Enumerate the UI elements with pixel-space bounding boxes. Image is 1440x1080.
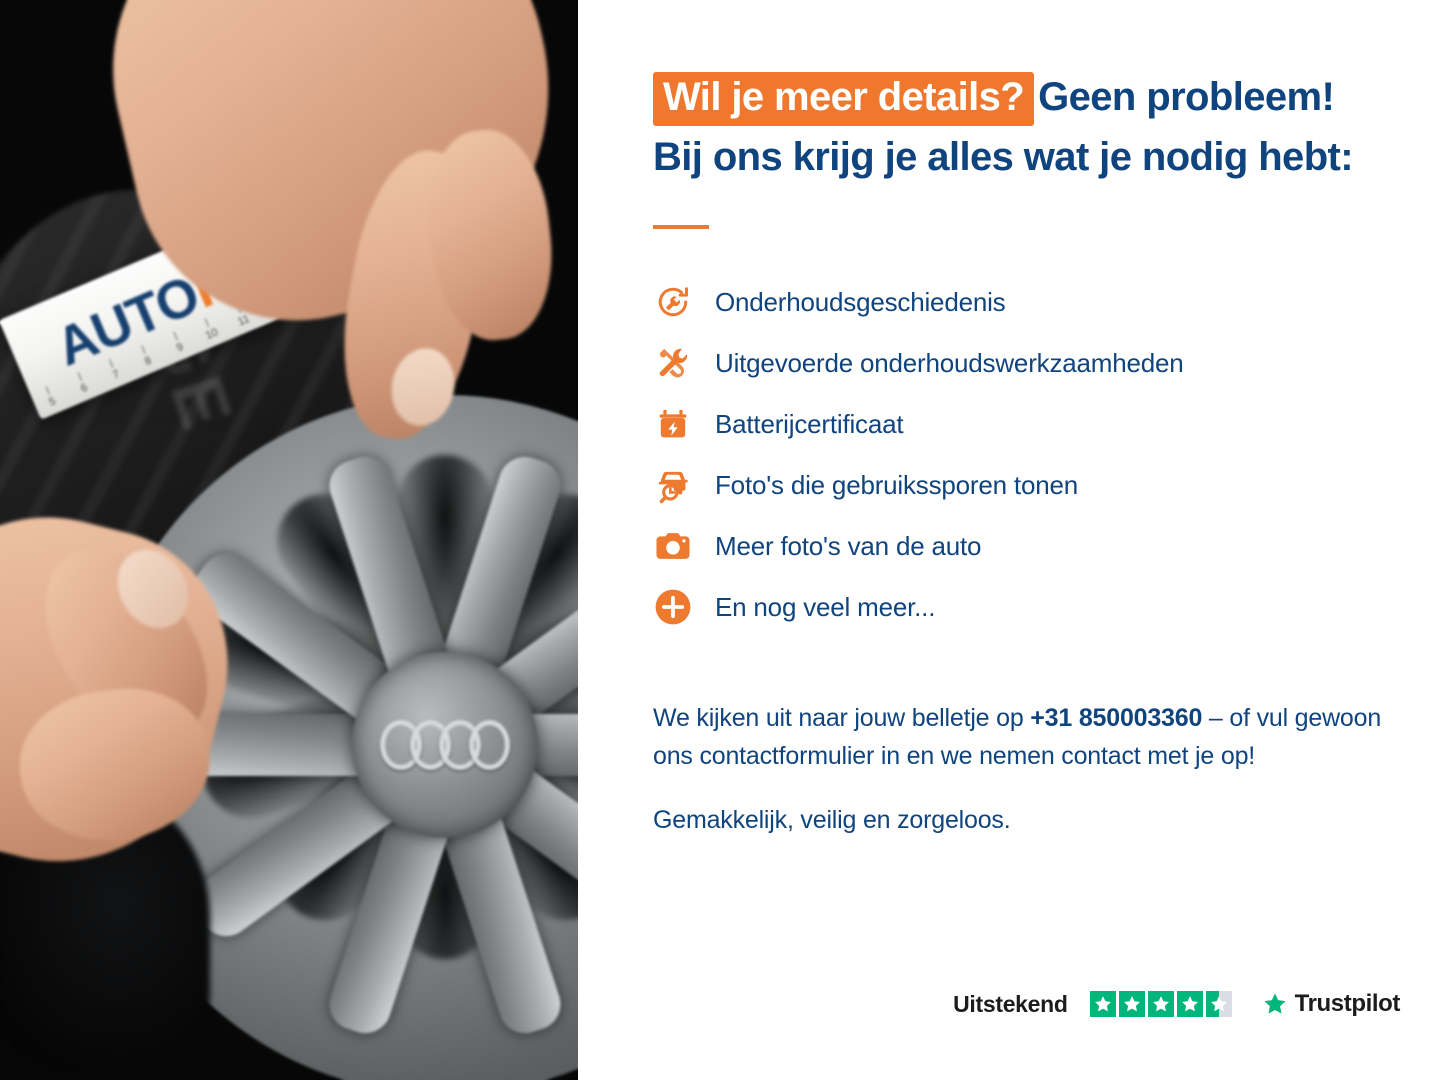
promo-banner: AGE	[0, 0, 1440, 1080]
trustpilot-rating-word: Uitstekend	[953, 991, 1068, 1018]
trustpilot-star-half	[1206, 991, 1232, 1017]
feature-item-more: En nog veel meer...	[653, 576, 1400, 637]
phone-number: +31 850003360	[1030, 704, 1202, 732]
trustpilot-star-filled	[1090, 991, 1116, 1017]
wheel-center-emblem	[380, 725, 510, 765]
trustpilot-star-icon	[1262, 991, 1288, 1017]
contact-copy: We kijken uit naar jouw belletje op +31 …	[653, 699, 1398, 839]
headline-line2: Bij ons krijg je alles wat je nodig hebt…	[653, 134, 1400, 181]
contact-paragraph: We kijken uit naar jouw belletje op +31 …	[653, 699, 1398, 775]
plus-circle-icon	[653, 587, 693, 627]
camera-icon	[653, 526, 693, 566]
headline-rest: Geen probleem!	[1038, 75, 1334, 119]
feature-item-maintenance-work: Uitgevoerde onderhoudswerkzaamheden	[653, 332, 1400, 393]
tools-icon	[653, 343, 693, 383]
trustpilot-logo: Trustpilot	[1262, 990, 1400, 1018]
reassurance-paragraph: Gemakkelijk, veilig en zorgeloos.	[653, 801, 1398, 839]
feature-label: Foto's die gebruikssporen tonen	[715, 469, 1078, 502]
hero-photo: AGE	[0, 0, 578, 1080]
maintenance-history-icon	[653, 282, 693, 322]
orange-divider	[653, 225, 709, 229]
feature-label: Batterijcertificaat	[715, 408, 903, 441]
feature-list: Onderhoudsgeschiedenis Uitgevoerde onder…	[653, 271, 1400, 637]
contact-text-before: We kijken uit naar jouw belletje op	[653, 704, 1030, 732]
battery-icon	[653, 404, 693, 444]
feature-item-maintenance-history: Onderhoudsgeschiedenis	[653, 271, 1400, 332]
feature-label: Uitgevoerde onderhoudswerkzaamheden	[715, 347, 1184, 380]
feature-item-wear-photos: Foto's die gebruikssporen tonen	[653, 454, 1400, 515]
feature-label: En nog veel meer...	[715, 591, 935, 624]
content-panel: Wil je meer details?Geen probleem! Bij o…	[578, 0, 1440, 1080]
trustpilot-rating[interactable]: Uitstekend Trus	[953, 990, 1400, 1018]
page-title: Wil je meer details?Geen probleem! Bij o…	[653, 72, 1400, 181]
feature-item-battery-certificate: Batterijcertificaat	[653, 393, 1400, 454]
feature-label: Meer foto's van de auto	[715, 530, 981, 563]
car-inspection-icon	[653, 465, 693, 505]
trustpilot-star-filled	[1119, 991, 1145, 1017]
trustpilot-stars	[1090, 991, 1232, 1017]
trustpilot-star-filled	[1148, 991, 1174, 1017]
trustpilot-star-filled	[1177, 991, 1203, 1017]
feature-label: Onderhoudsgeschiedenis	[715, 286, 1005, 319]
feature-item-more-photos: Meer foto's van de auto	[653, 515, 1400, 576]
headline-highlight: Wil je meer details?	[653, 72, 1034, 126]
trustpilot-brand-name: Trustpilot	[1295, 990, 1400, 1018]
